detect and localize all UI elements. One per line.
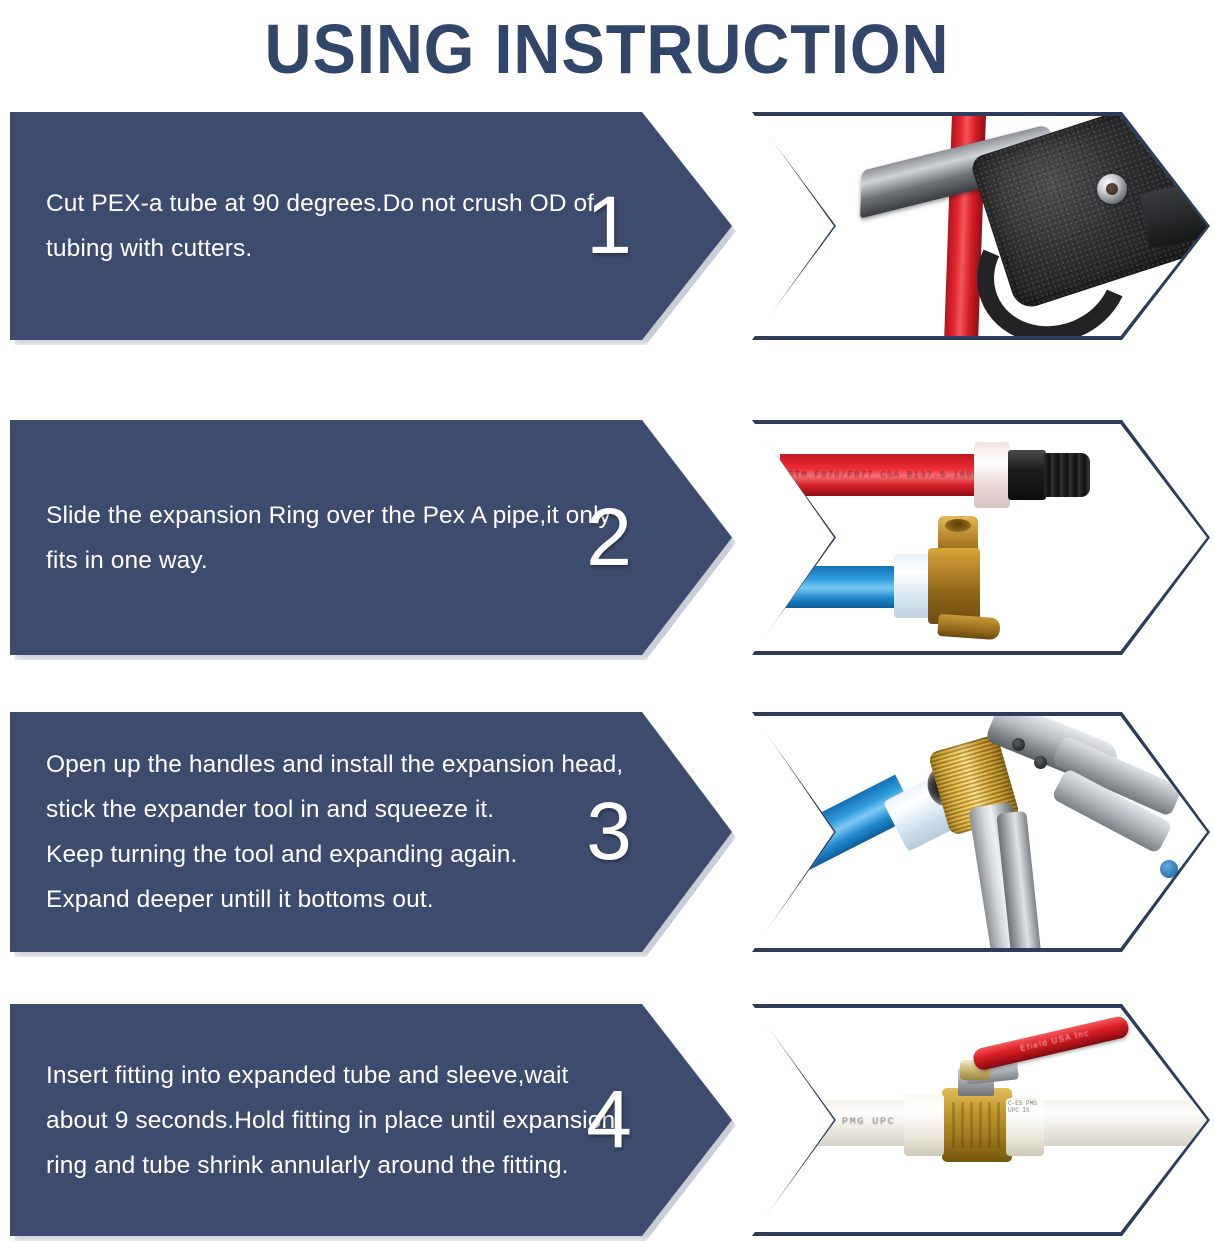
- step-photo-4: C-ES PMG UPC IS C-ES PMG UPC IS Efield U…: [752, 1004, 1210, 1236]
- black-fitting-body: [1008, 450, 1046, 500]
- pipe-marking-text: STM F876/F877 CSA B137.5 160PS: [788, 470, 978, 480]
- black-fitting-barb: [1044, 453, 1090, 497]
- photo-brass-ball-valve-installed: C-ES PMG UPC IS C-ES PMG UPC IS Efield U…: [752, 1004, 1210, 1236]
- red-lever-handle[interactable]: Efield USA Inc: [972, 1015, 1131, 1072]
- tool-hole: [1034, 756, 1047, 769]
- brass-elbow-body: [928, 548, 980, 624]
- expansion-ring-left: [904, 1094, 944, 1156]
- photo-pex-cutter-on-red-tube: [752, 112, 1210, 340]
- photo-inner: [752, 712, 1210, 952]
- pivot-rivet: [1097, 174, 1127, 204]
- brass-valve-body: [942, 1088, 1012, 1162]
- step-number-1: 1: [574, 112, 644, 340]
- step-text-line: Expand deeper untill it bottoms out.: [46, 877, 636, 922]
- step-text-3: Open up the handles and install the expa…: [46, 712, 636, 952]
- brass-elbow-ear: [937, 614, 1000, 640]
- photo-inner: C-ES PMG UPC IS C-ES PMG UPC IS Efield U…: [752, 1004, 1210, 1236]
- photo-inner: [752, 112, 1210, 340]
- step-number-4: 4: [574, 1004, 644, 1236]
- step-text-line: Insert fitting into expanded tube and sl…: [46, 1053, 636, 1098]
- step-arrow-1[interactable]: Cut PEX-a tube at 90 degrees.Do not crus…: [10, 112, 732, 340]
- pipe-marking-text: C-ES PMG UPC IS: [804, 1117, 918, 1128]
- step-text-line: fits in one way.: [46, 538, 636, 583]
- step-arrow-4[interactable]: Insert fitting into expanded tube and sl…: [10, 1004, 732, 1236]
- step-arrow-3[interactable]: Open up the handles and install the expa…: [10, 712, 732, 952]
- ring-marking-text: C-ES PMG UPC IS: [1008, 1100, 1048, 1114]
- step-arrow-2[interactable]: Slide the expansion Ring over the Pex A …: [10, 420, 732, 655]
- photo-inner: STM F876/F877 CSA B137.5 160PS: [752, 420, 1210, 655]
- step-text-line: tubing with cutters.: [46, 226, 636, 271]
- step-photo-1: [752, 112, 1210, 340]
- step-text-line: stick the expander tool in and squeeze i…: [46, 787, 636, 832]
- step-number-3: 3: [574, 712, 644, 952]
- step-text-line: Slide the expansion Ring over the Pex A …: [46, 493, 636, 538]
- step-row-2: Slide the expansion Ring over the Pex A …: [0, 420, 1214, 655]
- page-title: USING INSTRUCTION: [42, 6, 1171, 92]
- step-number-2: 2: [574, 420, 644, 655]
- step-text-2: Slide the expansion Ring over the Pex A …: [46, 420, 636, 655]
- photo-expansion-ring-on-pipes: STM F876/F877 CSA B137.5 160PS: [752, 420, 1210, 655]
- step-text-line: Open up the handles and install the expa…: [46, 742, 636, 787]
- step-text-4: Insert fitting into expanded tube and sl…: [46, 1004, 636, 1236]
- step-text-1: Cut PEX-a tube at 90 degrees.Do not crus…: [46, 112, 636, 340]
- blue-pex-pipe: [776, 566, 896, 608]
- lever-marking-text: Efield USA Inc: [1019, 1028, 1090, 1053]
- step-photo-3: [752, 712, 1210, 952]
- step-row-4: Insert fitting into expanded tube and sl…: [0, 1004, 1214, 1236]
- expansion-ring-red: [974, 442, 1010, 508]
- step-text-line: Cut PEX-a tube at 90 degrees.Do not crus…: [46, 181, 636, 226]
- photo-expander-tool-on-blue-pipe: [752, 712, 1210, 952]
- step-photo-2: STM F876/F877 CSA B137.5 160PS: [752, 420, 1210, 655]
- step-text-line: Keep turning the tool and expanding agai…: [46, 832, 636, 877]
- tool-hole: [1012, 738, 1025, 751]
- step-row-1: Cut PEX-a tube at 90 degrees.Do not crus…: [0, 112, 1214, 340]
- step-text-line: ring and tube shrink annularly around th…: [46, 1143, 636, 1188]
- step-row-3: Open up the handles and install the expa…: [0, 712, 1214, 952]
- step-text-line: about 9 seconds.Hold fitting in place un…: [46, 1098, 636, 1143]
- expansion-ring-blue: [894, 554, 930, 618]
- white-pex-pipe-right: [1036, 1100, 1208, 1146]
